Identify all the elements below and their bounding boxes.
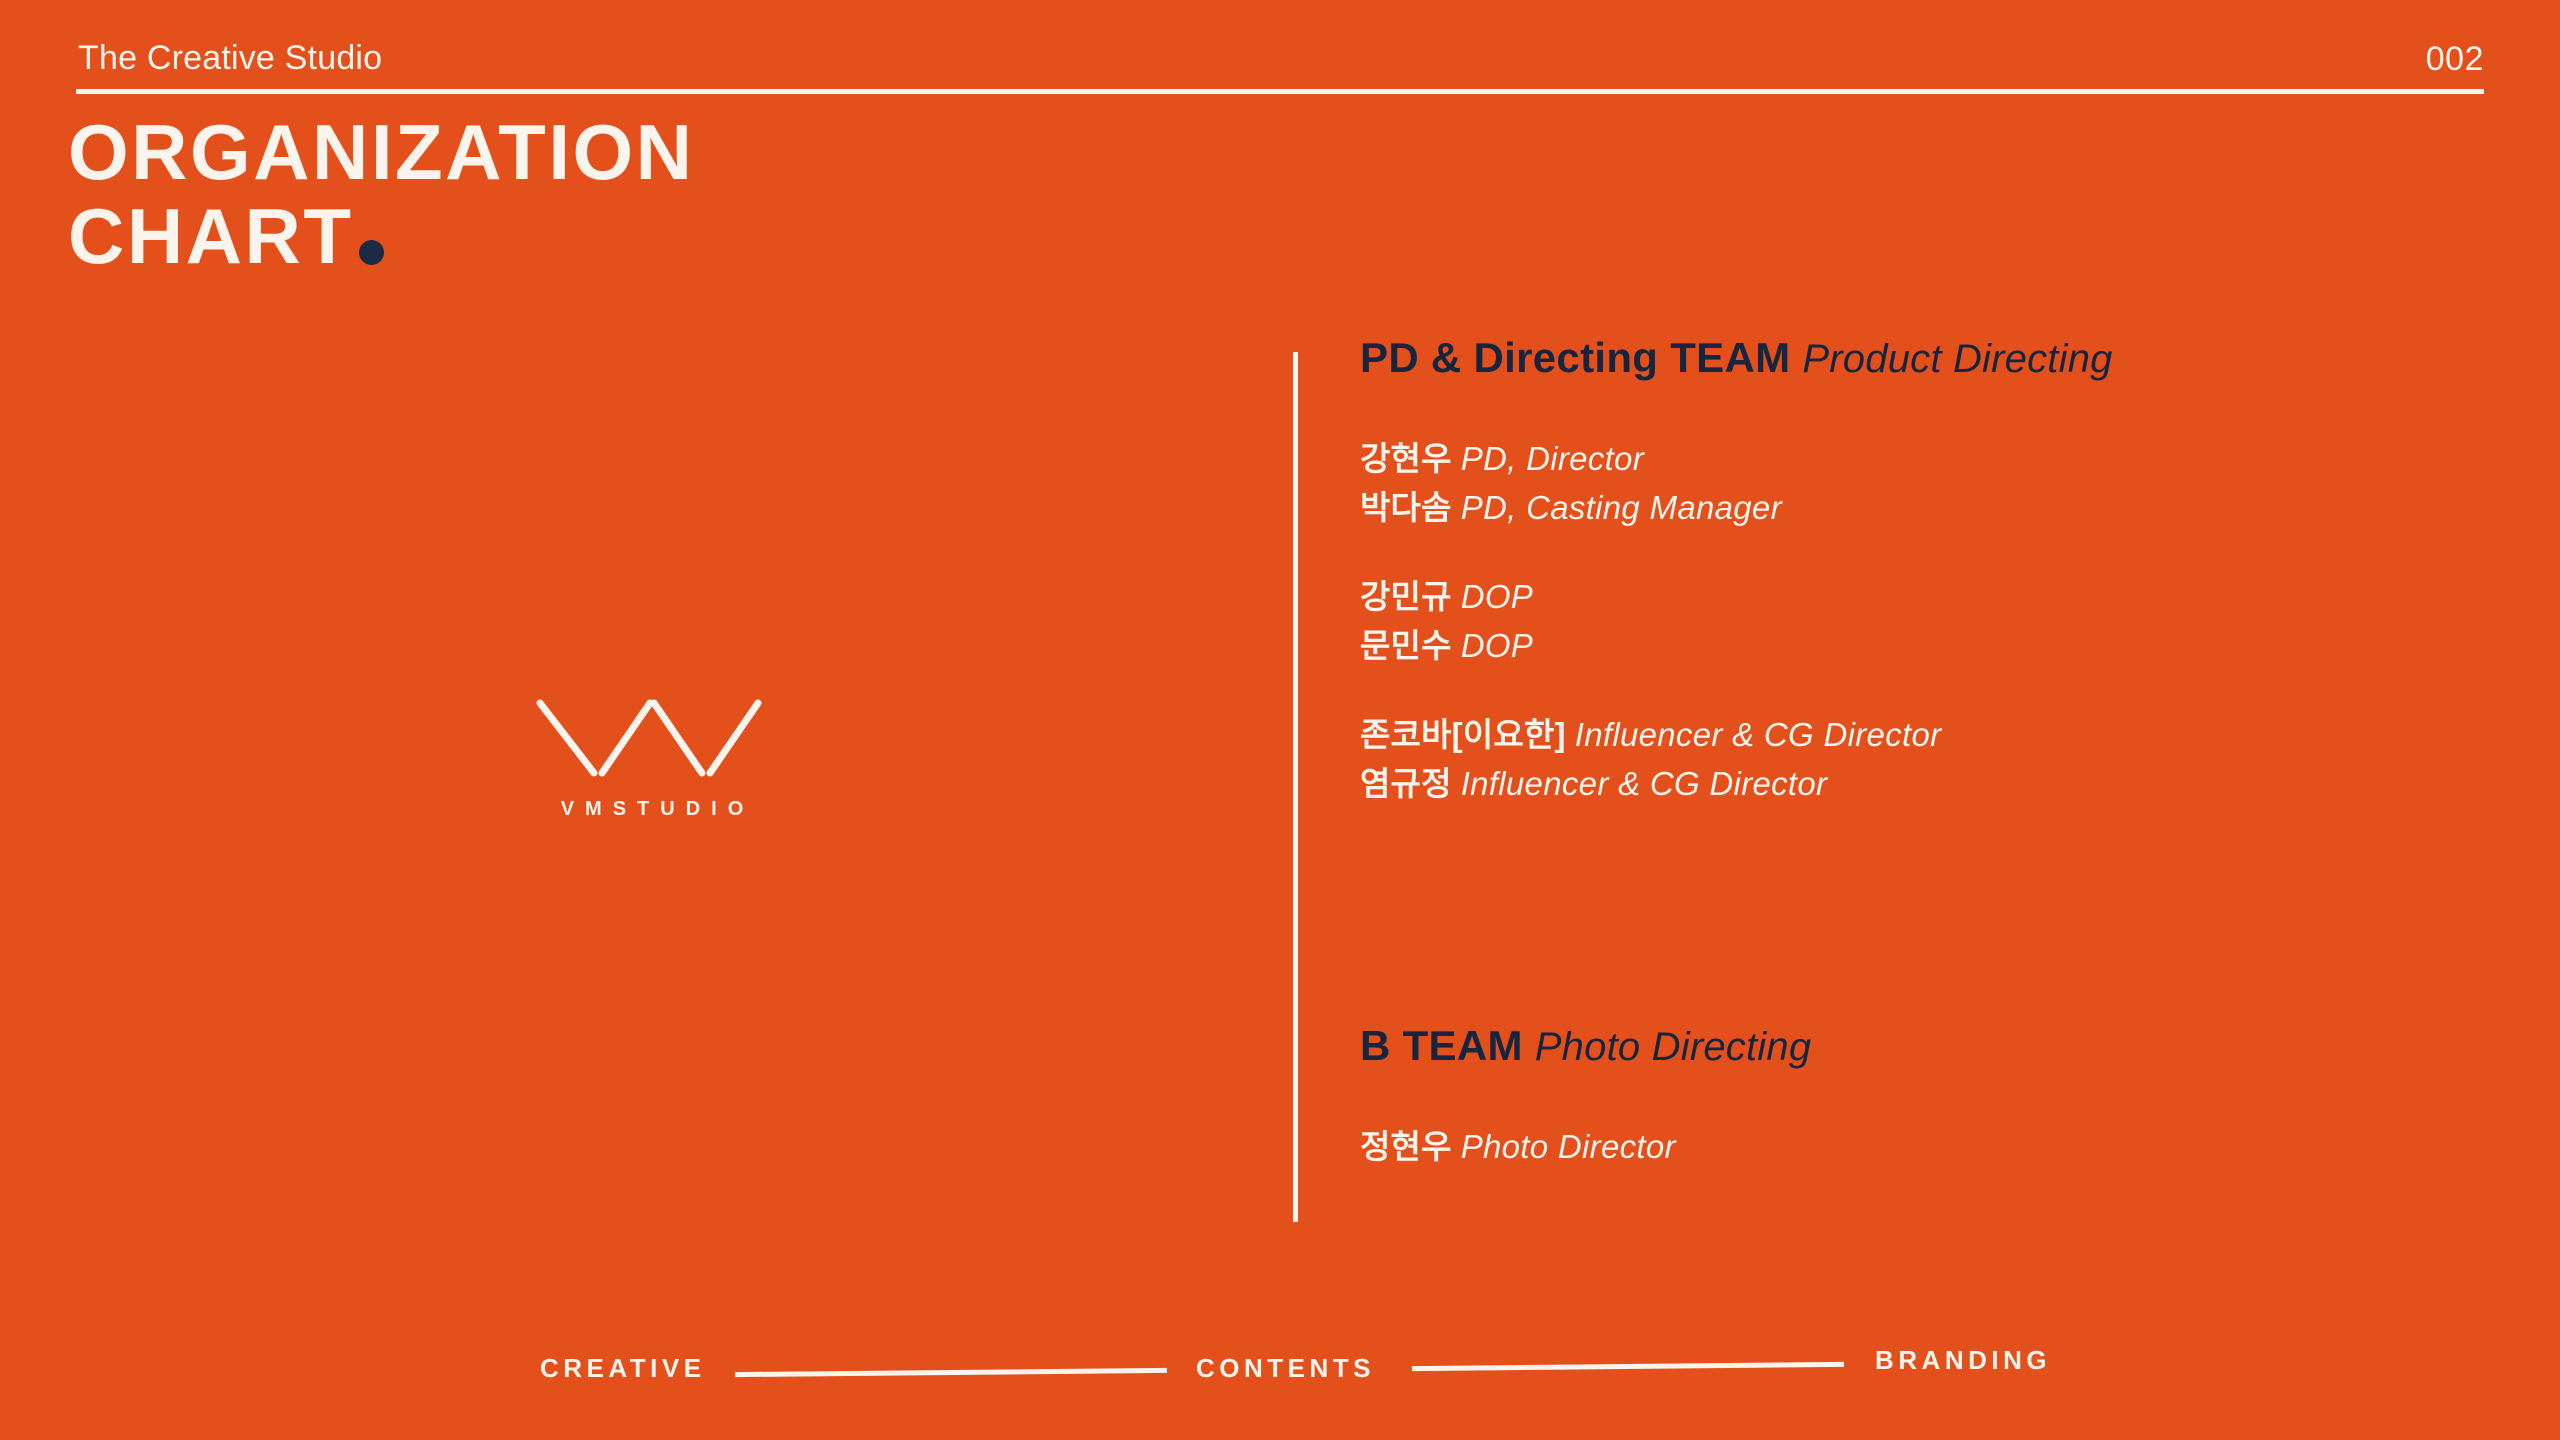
slide-canvas: The Creative Studio 002 ORGANIZATION CHA…	[0, 0, 2560, 1440]
team-role: Photo Directing	[1535, 1025, 1811, 1069]
member-row: 박다솜PD, Casting Manager	[1360, 483, 2460, 532]
slide-footer: CREATIVE CONTENTS BRANDING	[0, 1320, 2560, 1400]
vm-studio-logo: VMSTUDIO	[492, 680, 812, 840]
member-person: 강현우	[1360, 440, 1452, 477]
member-title: PD, Director	[1461, 440, 1644, 477]
footer-rule-left	[735, 1368, 1167, 1377]
slide-header: The Creative Studio 002	[76, 38, 2484, 94]
member-person: 강민규	[1360, 578, 1452, 615]
member-title: DOP	[1461, 627, 1533, 664]
page-title-line-2: CHART	[68, 192, 353, 280]
team-heading: B TEAMPhoto Directing	[1360, 1018, 2460, 1084]
header-eyebrow: The Creative Studio	[78, 38, 382, 78]
team-block: B TEAMPhoto Directing 정현우Photo Director	[1360, 1018, 2460, 1171]
member-group: 정현우Photo Director	[1360, 1122, 2460, 1171]
title-dot-icon	[359, 240, 384, 265]
teams-vertical-divider	[1293, 352, 1298, 1222]
page-title-line-2-wrap: CHART	[68, 194, 695, 278]
member-row: 염규정Influencer & CG Director	[1360, 759, 2460, 808]
member-person: 박다솜	[1360, 489, 1452, 526]
teams-list: PD & Directing TEAMProduct Directing 강현우…	[1360, 330, 2460, 1211]
member-row: 강민규DOP	[1360, 572, 2460, 621]
member-group: 존코바[이요한]Influencer & CG Director 염규정Infl…	[1360, 710, 2460, 808]
vm-studio-wordmark: VMSTUDIO	[492, 798, 812, 821]
member-person: 정현우	[1360, 1128, 1452, 1165]
member-row: 강현우PD, Director	[1360, 434, 2460, 483]
page-number: 002	[2426, 39, 2484, 79]
member-title: Photo Director	[1461, 1128, 1676, 1165]
member-row: 정현우Photo Director	[1360, 1122, 2460, 1171]
footer-label-creative: CREATIVE	[540, 1353, 706, 1384]
header-divider-rule	[76, 89, 2484, 94]
member-row: 존코바[이요한]Influencer & CG Director	[1360, 710, 2460, 759]
page-title-line-1: ORGANIZATION	[68, 110, 695, 194]
team-name: B TEAM	[1360, 1022, 1523, 1069]
member-title: Influencer & CG Director	[1575, 716, 1942, 753]
member-group: 강민규DOP 문민수DOP	[1360, 572, 2460, 670]
member-title: Influencer & CG Director	[1461, 765, 1828, 802]
footer-rule-right	[1412, 1362, 1844, 1371]
team-name: PD & Directing TEAM	[1360, 334, 1790, 381]
team-spacer	[1360, 848, 2460, 1018]
team-block: PD & Directing TEAMProduct Directing 강현우…	[1360, 330, 2460, 808]
team-heading: PD & Directing TEAMProduct Directing	[1360, 330, 2460, 396]
member-person: 문민수	[1360, 627, 1452, 664]
member-group: 강현우PD, Director 박다솜PD, Casting Manager	[1360, 434, 2460, 532]
vm-studio-zigzag-icon	[532, 695, 772, 800]
footer-label-branding: BRANDING	[1875, 1345, 2051, 1376]
member-title: DOP	[1461, 578, 1533, 615]
member-row: 문민수DOP	[1360, 621, 2460, 670]
page-title: ORGANIZATION CHART	[68, 110, 695, 278]
member-title: PD, Casting Manager	[1461, 489, 1782, 526]
member-person: 존코바[이요한]	[1360, 716, 1566, 753]
footer-label-contents: CONTENTS	[1196, 1353, 1375, 1384]
team-role: Product Directing	[1802, 337, 2112, 381]
member-person: 염규정	[1360, 765, 1452, 802]
